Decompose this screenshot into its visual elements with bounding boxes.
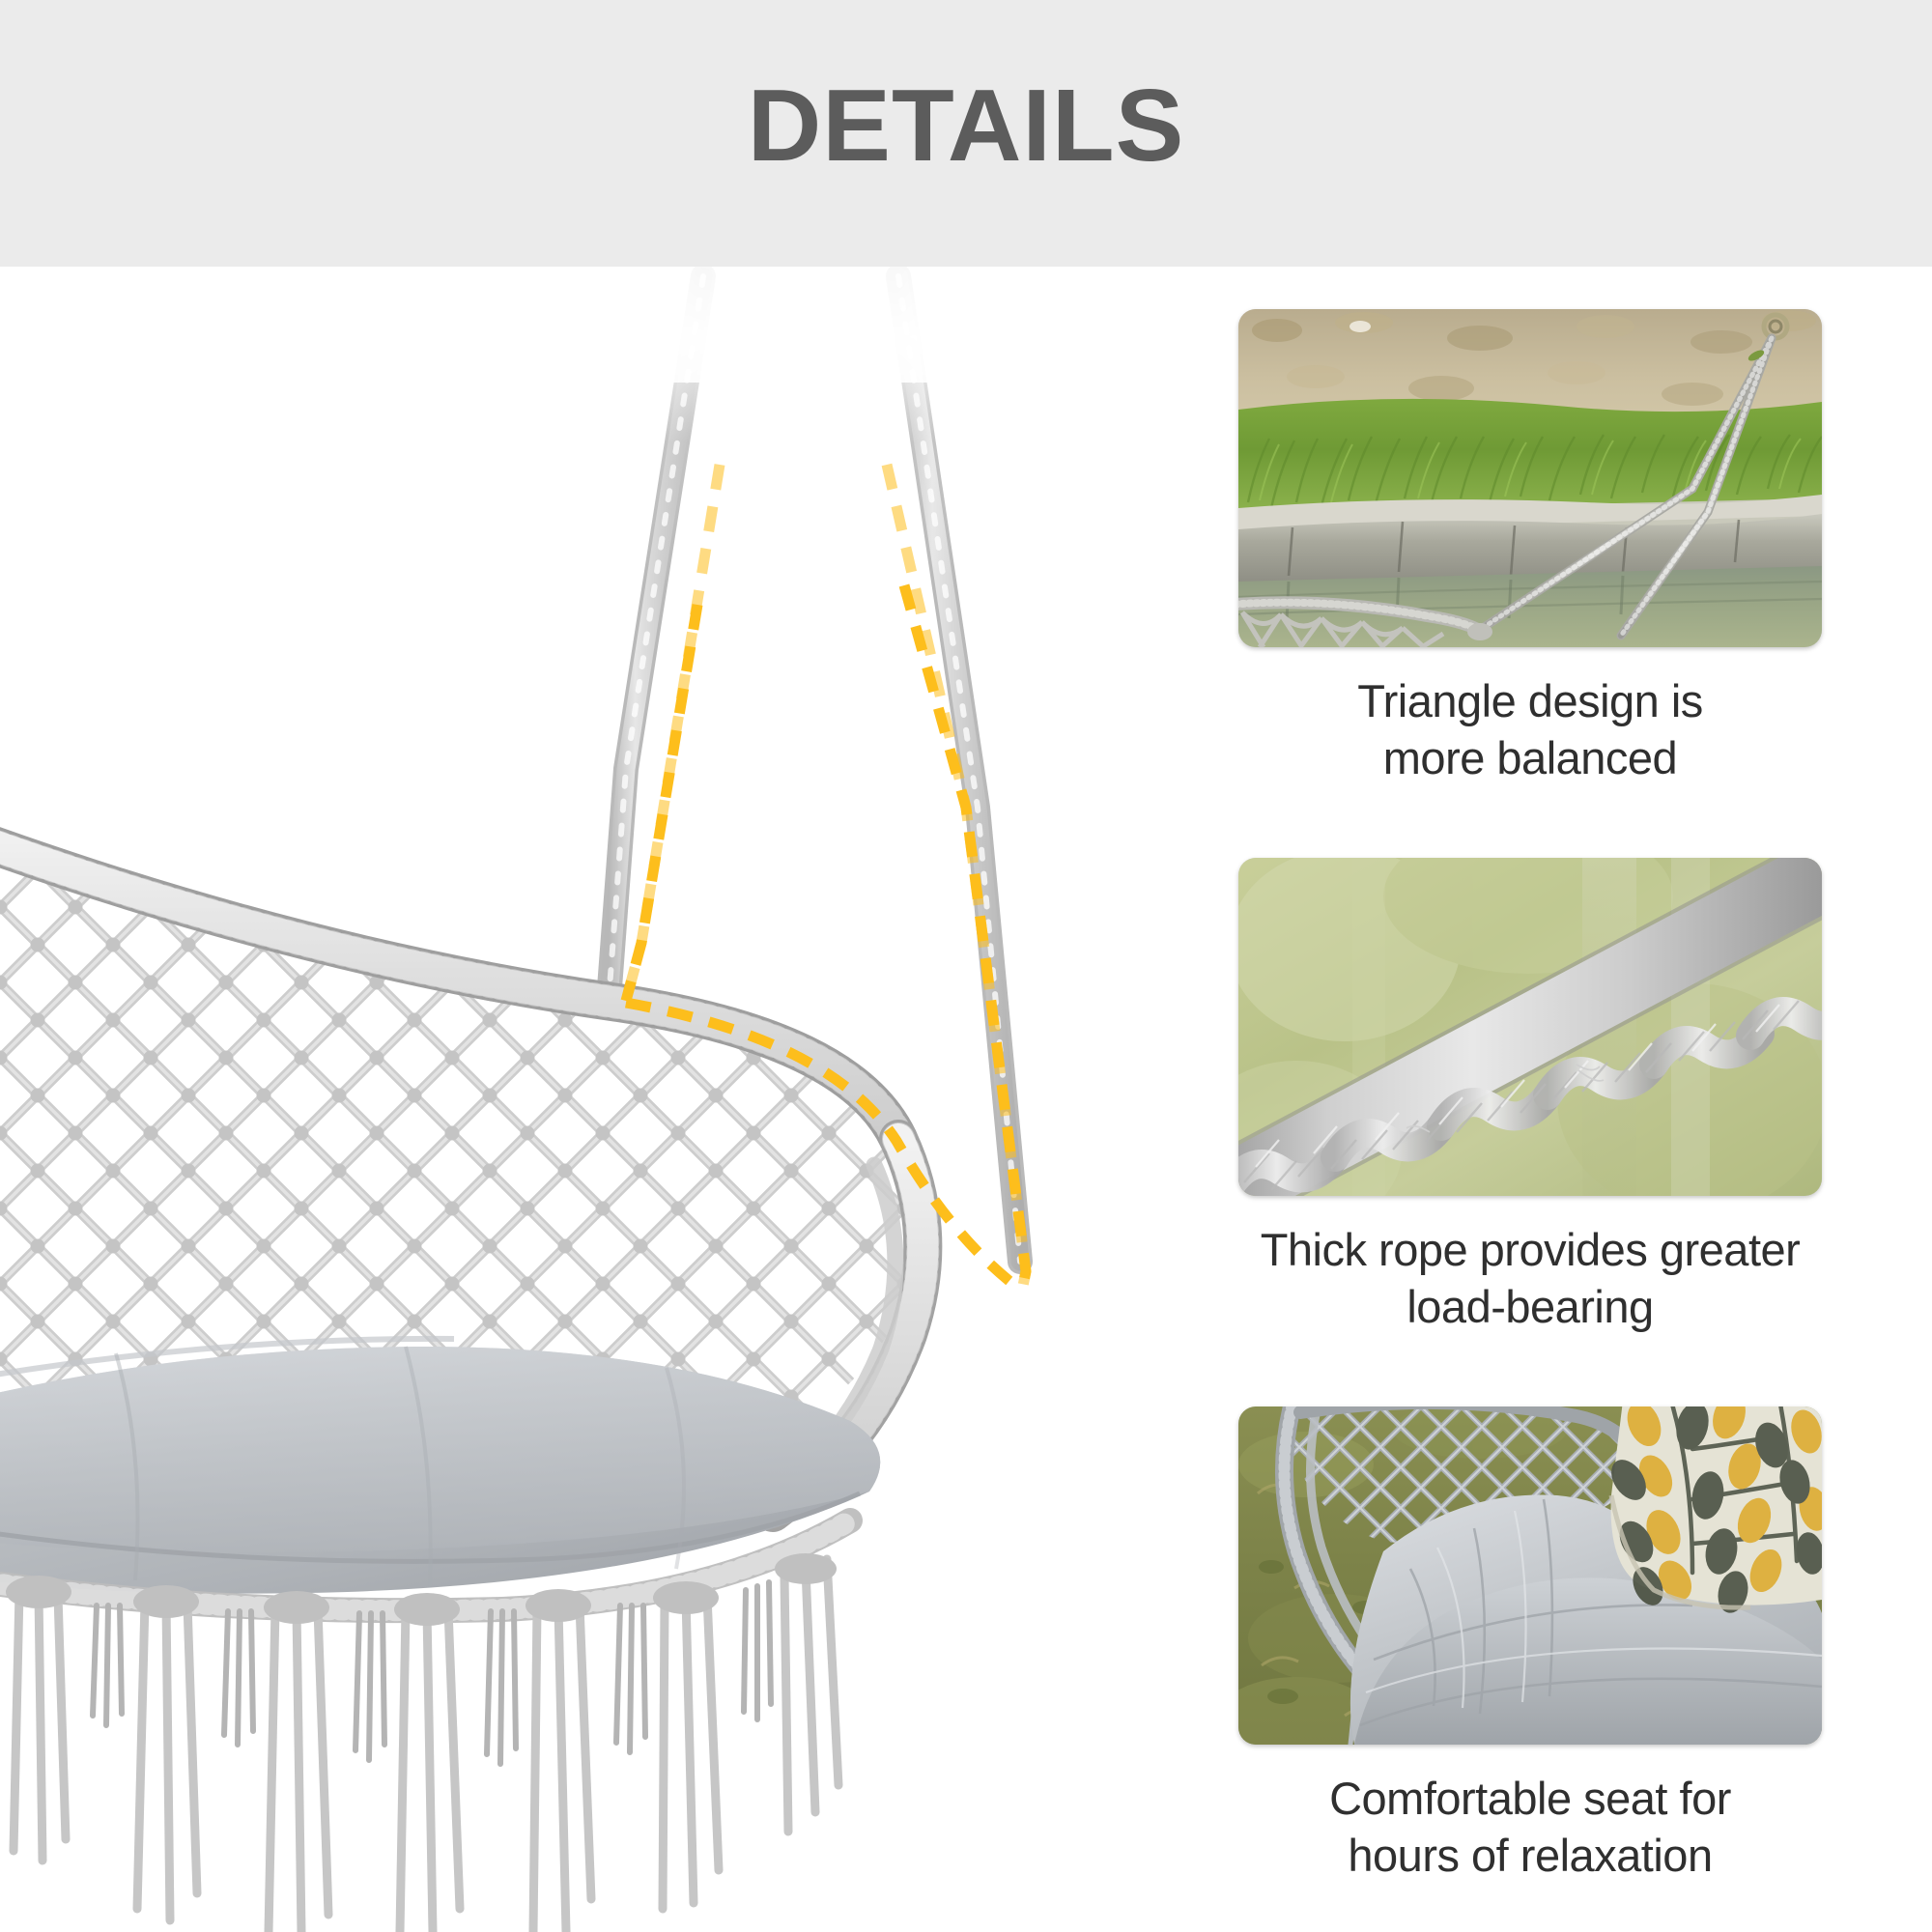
caption-line-1: Thick rope provides greater [1261,1224,1801,1275]
thumb-2-illustration [1238,858,1822,1196]
caption-line-2: hours of relaxation [1348,1830,1712,1881]
hero-product-image [0,267,1198,1932]
feature-card-comfortable-seat: Comfortable seat for hours of relaxation [1238,1406,1822,1884]
thumb-1-illustration [1238,309,1822,647]
thick-braided-rope-photo[interactable] [1238,858,1822,1196]
header-band: DETAILS [0,0,1932,267]
product-detail-page: DETAILS [0,0,1932,1932]
feature-caption-comfortable-seat: Comfortable seat for hours of relaxation [1238,1770,1822,1884]
body-area: Triangle design is more balanced [0,267,1932,1932]
caption-line-2: load-bearing [1406,1281,1653,1332]
cushioned-seat-photo[interactable] [1238,1406,1822,1745]
feature-list: Triangle design is more balanced [1198,267,1932,1932]
feature-card-triangle-design: Triangle design is more balanced [1238,309,1822,786]
page-title: DETAILS [748,74,1185,177]
feature-caption-thick-rope: Thick rope provides greater load-bearing [1238,1221,1822,1335]
triangle-rope-suspension-photo[interactable] [1238,309,1822,647]
leaf-pattern-throw-pillow [1605,1406,1822,1616]
thumb-3-illustration [1238,1406,1822,1745]
hero-illustration [0,267,1198,1932]
feature-card-thick-rope: Thick rope provides greater load-bearing [1238,858,1822,1335]
caption-line-1: Triangle design is [1357,675,1703,726]
caption-line-2: more balanced [1383,732,1677,783]
caption-line-1: Comfortable seat for [1329,1773,1731,1824]
feature-caption-triangle-design: Triangle design is more balanced [1238,672,1822,786]
